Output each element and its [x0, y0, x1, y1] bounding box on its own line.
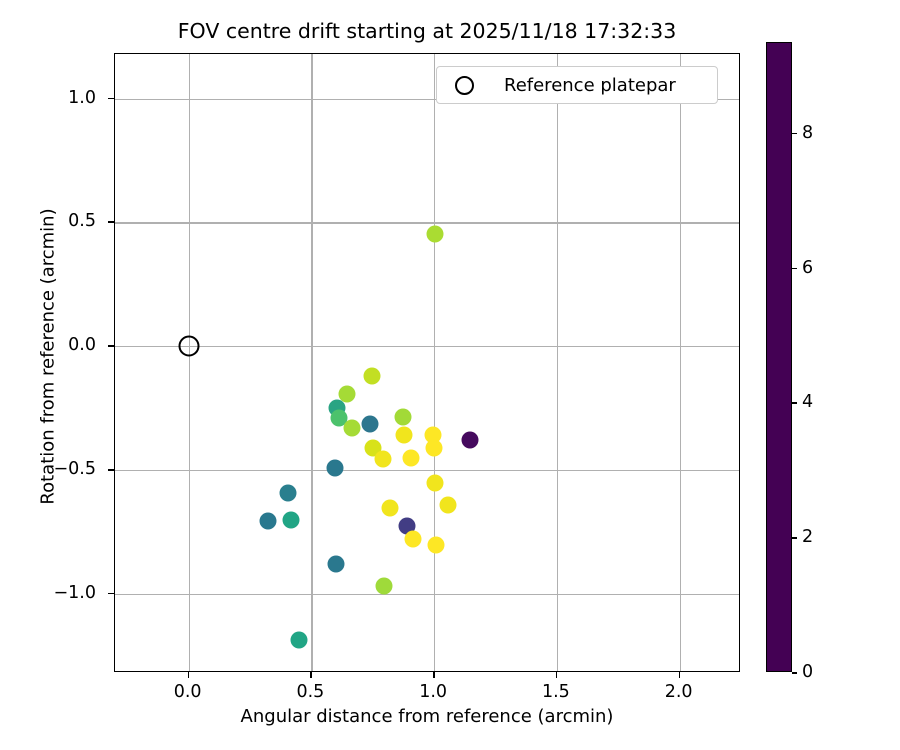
- legend: Reference platepar: [436, 66, 718, 104]
- colorbar-tick-label: 0: [802, 662, 813, 682]
- scatter-point: [362, 416, 379, 433]
- x-axis-tick-label: 1.0: [419, 682, 447, 702]
- legend-entry-label: Reference platepar: [504, 75, 676, 96]
- plot-axes: [114, 53, 740, 672]
- gridline-vertical: [189, 54, 190, 671]
- scatter-point: [338, 385, 355, 402]
- x-axis-tick-label: 2.0: [665, 682, 693, 702]
- colorbar-tick: [792, 537, 797, 539]
- legend-marker-open-circle-icon: [455, 76, 474, 95]
- scatter-point: [402, 450, 419, 467]
- scatter-point: [374, 450, 391, 467]
- gridline-vertical: [680, 54, 681, 671]
- colorbar-tick: [792, 402, 797, 404]
- scatter-point: [427, 474, 444, 491]
- figure-canvas: FOV centre drift starting at 2025/11/18 …: [0, 0, 900, 750]
- scatter-point: [260, 512, 277, 529]
- x-axis-label: Angular distance from reference (arcmin): [114, 706, 740, 727]
- scatter-point: [405, 530, 422, 547]
- page-title: FOV centre drift starting at 2025/11/18 …: [114, 18, 740, 44]
- y-axis-tick: [108, 469, 114, 471]
- scatter-point: [343, 419, 360, 436]
- plot-area: [115, 54, 739, 671]
- scatter-point: [394, 408, 411, 425]
- colorbar-tick-label: 8: [802, 123, 813, 143]
- scatter-point: [439, 496, 456, 513]
- scatter-point: [364, 368, 381, 385]
- y-axis-tick: [108, 345, 114, 347]
- x-axis-tick-label: 0.0: [174, 682, 202, 702]
- scatter-point: [375, 578, 392, 595]
- x-axis-tick: [433, 672, 435, 678]
- gridline-horizontal: [115, 470, 739, 471]
- x-axis-tick-label: 0.5: [296, 682, 324, 702]
- scatter-point: [462, 431, 479, 448]
- colorbar-gradient: [767, 43, 791, 671]
- colorbar-tick: [792, 133, 797, 135]
- reference-platepar-marker: [178, 336, 199, 357]
- x-axis-tick: [310, 672, 312, 678]
- x-axis-tick: [188, 672, 190, 678]
- colorbar-tick-label: 6: [802, 258, 813, 278]
- gridline-horizontal: [115, 346, 739, 347]
- y-axis-tick: [108, 221, 114, 223]
- x-axis-tick: [679, 672, 681, 678]
- x-axis-tick: [556, 672, 558, 678]
- y-axis-label: Rotation from reference (arcmin): [38, 47, 59, 667]
- colorbar-tick-label: 2: [802, 527, 813, 547]
- gridline-vertical: [557, 54, 558, 671]
- colorbar-tick: [792, 268, 797, 270]
- colorbar-tick-label: 4: [802, 392, 813, 412]
- scatter-point: [396, 427, 413, 444]
- scatter-point: [327, 459, 344, 476]
- scatter-point: [381, 500, 398, 517]
- scatter-point: [282, 511, 299, 528]
- colorbar: [766, 42, 792, 672]
- gridline-vertical: [311, 54, 312, 671]
- scatter-point: [280, 484, 297, 501]
- gridline-horizontal: [115, 594, 739, 595]
- scatter-point: [428, 536, 445, 553]
- gridline-vertical: [434, 54, 435, 671]
- x-axis-tick-label: 1.5: [542, 682, 570, 702]
- y-axis-tick: [108, 593, 114, 595]
- gridline-horizontal: [115, 222, 739, 223]
- y-axis-tick: [108, 98, 114, 100]
- scatter-point: [426, 226, 443, 243]
- scatter-point: [327, 555, 344, 572]
- colorbar-tick: [792, 672, 797, 674]
- scatter-point: [291, 632, 308, 649]
- scatter-point: [426, 439, 443, 456]
